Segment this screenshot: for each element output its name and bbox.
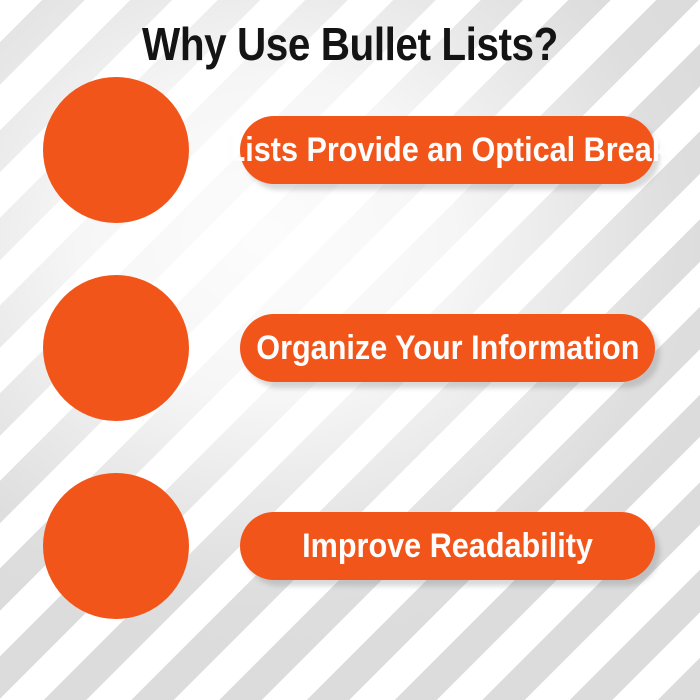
bullet-pill-label: Lists Provide an Optical Break xyxy=(226,131,668,169)
bullet-circle-icon xyxy=(43,77,189,223)
bullet-pill-label: Organize Your Information xyxy=(256,329,639,367)
bullet-circle-icon xyxy=(43,473,189,619)
bullet-pill-label: Improve Readability xyxy=(302,527,593,565)
page-title: Why Use Bullet Lists? xyxy=(42,18,658,70)
bullet-pill: Organize Your Information xyxy=(240,314,655,382)
bullet-pill: Lists Provide an Optical Break xyxy=(240,116,655,184)
bullet-row: Improve Readability xyxy=(0,471,700,621)
bullet-row: Organize Your Information xyxy=(0,273,700,423)
bullet-circle-icon xyxy=(43,275,189,421)
bullet-pill: Improve Readability xyxy=(240,512,655,580)
bullet-row: Lists Provide an Optical Break xyxy=(0,75,700,225)
bullet-list-infographic: Why Use Bullet Lists? Lists Provide an O… xyxy=(0,0,700,700)
